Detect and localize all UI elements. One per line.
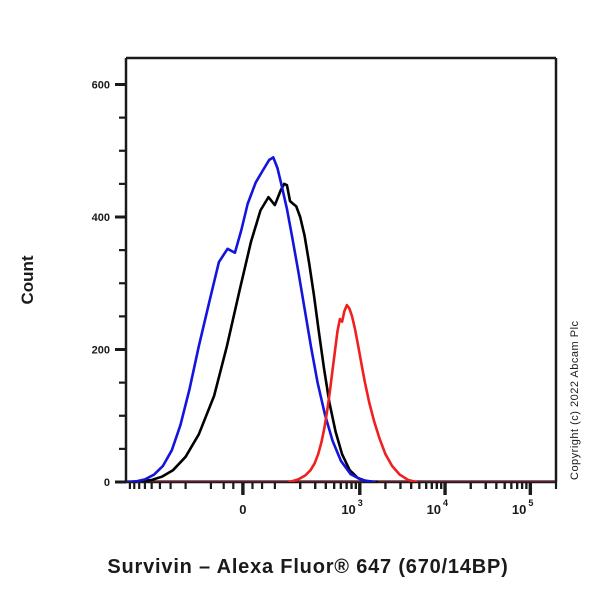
y-axis-title-text: Count bbox=[18, 255, 37, 304]
y-axis-title: Count bbox=[18, 255, 37, 304]
x-tick-label-mantissa: 10 bbox=[427, 502, 441, 517]
flow-cytometry-histogram: 0200400600 0103104105 Count Survivin – A… bbox=[0, 0, 600, 600]
x-tick-label-exponent: 4 bbox=[443, 498, 448, 508]
x-tick-label-exponent: 3 bbox=[358, 498, 363, 508]
y-tick-label: 200 bbox=[92, 345, 110, 357]
x-axis-title-text: Survivin – Alexa Fluor® 647 (670/14BP) bbox=[107, 556, 508, 578]
y-tick-label: 400 bbox=[92, 212, 110, 224]
x-tick-label-exponent: 5 bbox=[528, 498, 533, 508]
x-tick-label-mantissa: 10 bbox=[341, 502, 355, 517]
figure-background bbox=[0, 0, 600, 600]
copyright-text: Copyright (c) 2022 Abcam Plc bbox=[569, 320, 581, 480]
y-tick-label: 600 bbox=[92, 80, 110, 92]
x-tick-label-mantissa: 0 bbox=[239, 502, 246, 517]
y-tick-label: 0 bbox=[104, 477, 110, 489]
x-tick-label-mantissa: 10 bbox=[512, 502, 526, 517]
x-tick-label: 0 bbox=[239, 502, 246, 517]
